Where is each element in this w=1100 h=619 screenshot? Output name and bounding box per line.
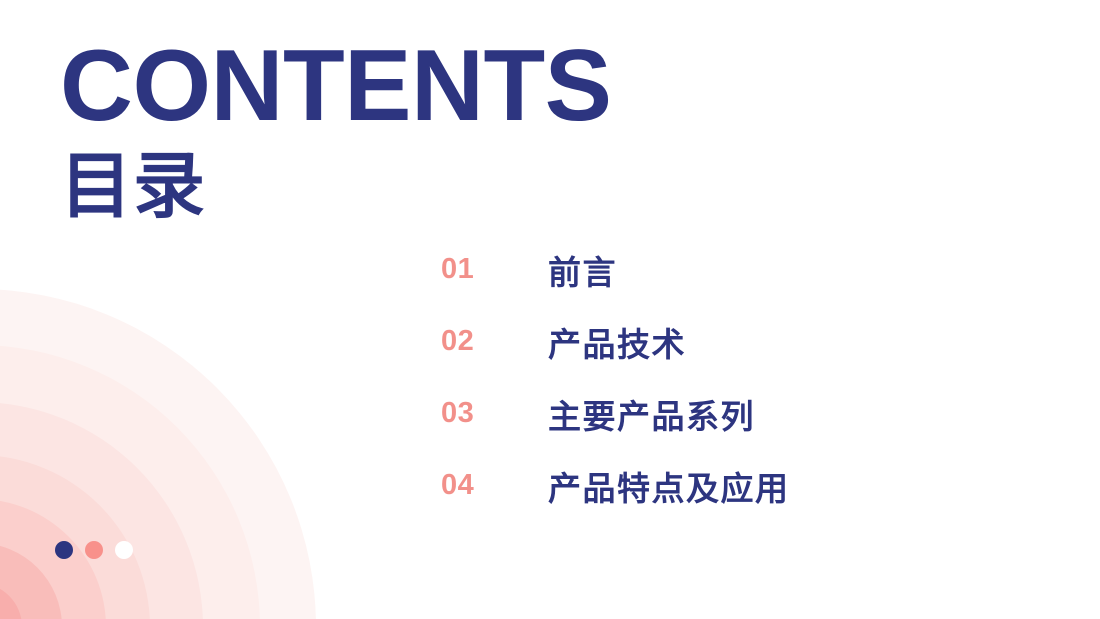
ring-4 [0, 455, 150, 619]
dot-indicator-group [55, 541, 133, 559]
ring-2 [0, 543, 62, 619]
table-of-contents: 01 前言 02 产品技术 03 主要产品系列 04 产品特点及应用 [441, 243, 790, 512]
toc-number: 01 [441, 253, 548, 286]
ring-5 [0, 402, 203, 619]
toc-label: 主要产品系列 [548, 390, 755, 438]
ring-1 [0, 583, 22, 619]
slide-canvas: CONTENTS 目录 01 前言 02 产品技术 03 主要产品系列 04 产… [0, 0, 1100, 619]
toc-item-04[interactable]: 04 产品特点及应用 [441, 459, 790, 512]
toc-number: 02 [441, 325, 548, 358]
ring-group [0, 289, 316, 619]
ring-6 [0, 345, 260, 619]
ring-3 [0, 499, 106, 619]
toc-number: 04 [441, 469, 548, 502]
toc-label: 产品技术 [548, 318, 686, 366]
toc-number: 03 [441, 397, 548, 430]
toc-item-01[interactable]: 01 前言 [441, 243, 790, 296]
toc-item-02[interactable]: 02 产品技术 [441, 315, 790, 368]
dot-white-icon [115, 541, 133, 559]
dot-coral-icon [85, 541, 103, 559]
toc-label: 产品特点及应用 [548, 462, 790, 510]
page-title: CONTENTS [60, 36, 612, 137]
ring-7 [0, 289, 316, 619]
toc-item-03[interactable]: 03 主要产品系列 [441, 387, 790, 440]
title-block: CONTENTS 目录 [60, 36, 612, 223]
dot-navy-icon [55, 541, 73, 559]
toc-label: 前言 [548, 246, 617, 294]
page-subtitle: 目录 [60, 151, 612, 223]
